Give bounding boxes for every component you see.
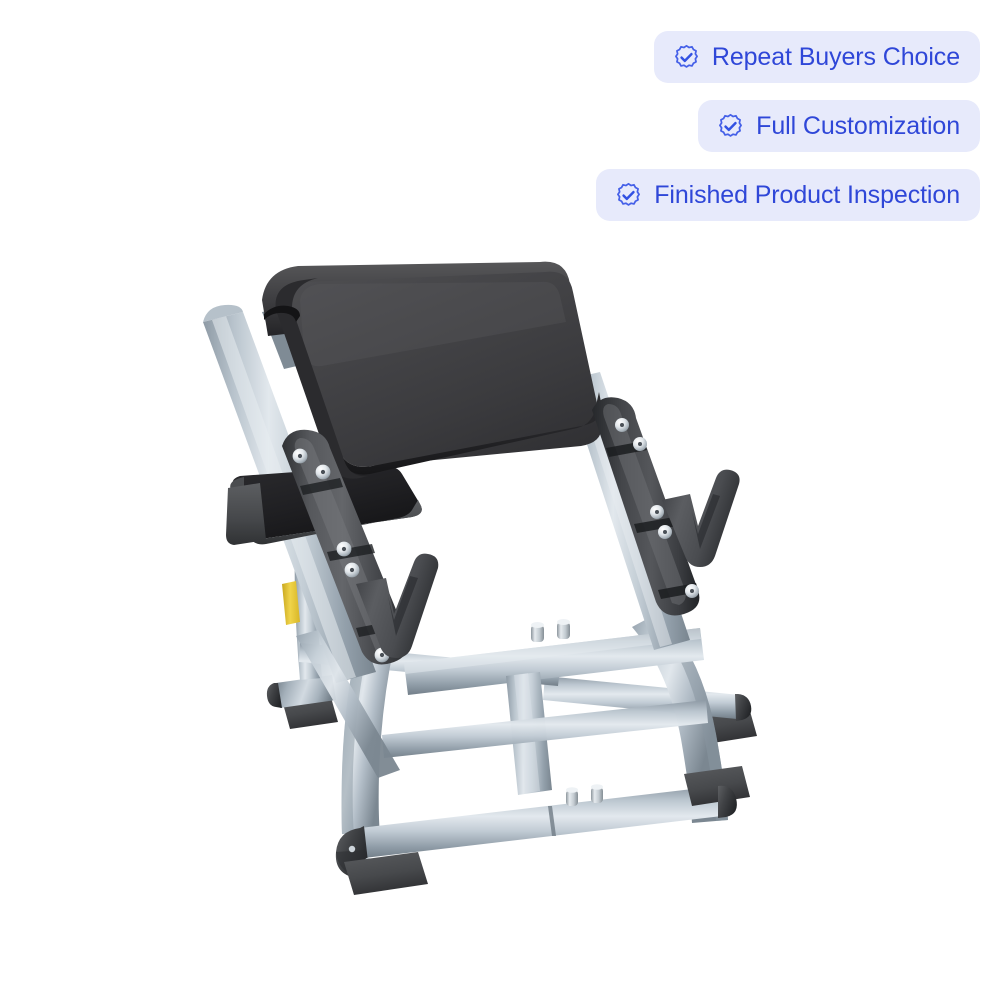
adjustment-bolts-upper	[531, 619, 570, 642]
cap-bolt-front-left-a	[349, 846, 355, 852]
feature-badge-label: Finished Product Inspection	[654, 182, 960, 209]
feature-badge-0[interactable]: Repeat Buyers Choice	[654, 31, 980, 83]
seat-pad-left-block	[226, 483, 266, 545]
front-bottom-rail	[360, 786, 722, 858]
verified-badge-check-icon	[673, 44, 700, 71]
product-hero-canvas: Repeat Buyers Choice Full Customization …	[0, 0, 1000, 1000]
feature-badge-label: Repeat Buyers Choice	[712, 44, 960, 71]
feature-badge-2[interactable]: Finished Product Inspection	[596, 169, 980, 221]
verified-badge-check-icon	[717, 113, 744, 140]
feature-badge-label: Full Customization	[756, 113, 960, 140]
feature-badge-1[interactable]: Full Customization	[698, 100, 980, 152]
feature-badge-list: Repeat Buyers Choice Full Customization …	[596, 31, 980, 221]
verified-badge-check-icon	[615, 182, 642, 209]
